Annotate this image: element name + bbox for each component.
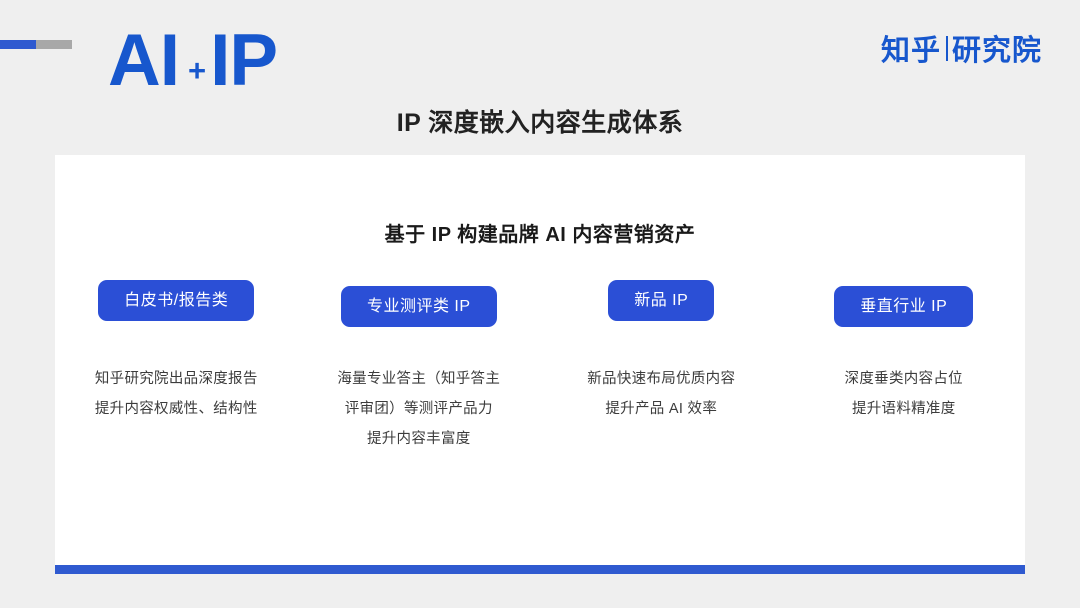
content-card: 基于 IP 构建品牌 AI 内容营销资产 白皮书/报告类 知乎研究院出品深度报告… — [55, 155, 1025, 565]
pillar-column-vertical: 垂直行业 IP 深度垂类内容占位提升语料精准度 — [783, 280, 1026, 454]
card-subtitle: 基于 IP 构建品牌 AI 内容营销资产 — [55, 218, 1025, 247]
brand-heading-ai: AI — [108, 26, 179, 95]
logo-divider — [946, 36, 948, 61]
pillar-columns: 白皮书/报告类 知乎研究院出品深度报告提升内容权威性、结构性 专业测评类 IP … — [55, 280, 1025, 454]
pillar-pill-review[interactable]: 专业测评类 IP — [341, 286, 497, 327]
pillar-desc-newproduct: 新品快速布局优质内容提升产品 AI 效率 — [587, 365, 735, 424]
pillar-desc-review: 海量专业答主（知乎答主评审团）等测评产品力提升内容丰富度 — [337, 365, 500, 454]
pillar-pill-newproduct[interactable]: 新品 IP — [608, 280, 714, 321]
decorative-accent-bar — [0, 40, 72, 49]
zhihu-research-logo: 知乎 研究院 — [881, 27, 1042, 69]
brand-heading-plus: + — [179, 55, 210, 95]
pillar-column-newproduct: 新品 IP 新品快速布局优质内容提升产品 AI 效率 — [540, 280, 783, 454]
bottom-accent-bar — [55, 565, 1025, 574]
accent-segment-gray — [36, 40, 72, 49]
pillar-column-whitepaper: 白皮书/报告类 知乎研究院出品深度报告提升内容权威性、结构性 — [55, 280, 298, 454]
page-title: IP 深度嵌入内容生成体系 — [0, 103, 1080, 139]
pillar-pill-vertical[interactable]: 垂直行业 IP — [834, 286, 973, 327]
logo-text-research: 研究院 — [952, 27, 1042, 69]
brand-heading: AI + IP — [108, 26, 277, 95]
brand-heading-ip: IP — [210, 26, 277, 95]
pillar-desc-vertical: 深度垂类内容占位提升语料精准度 — [845, 365, 963, 424]
logo-text-zhihu: 知乎 — [881, 27, 941, 69]
accent-segment-blue — [0, 40, 36, 49]
pillar-column-review: 专业测评类 IP 海量专业答主（知乎答主评审团）等测评产品力提升内容丰富度 — [298, 280, 541, 454]
pillar-desc-whitepaper: 知乎研究院出品深度报告提升内容权威性、结构性 — [95, 365, 258, 424]
pillar-pill-whitepaper[interactable]: 白皮书/报告类 — [98, 280, 254, 321]
